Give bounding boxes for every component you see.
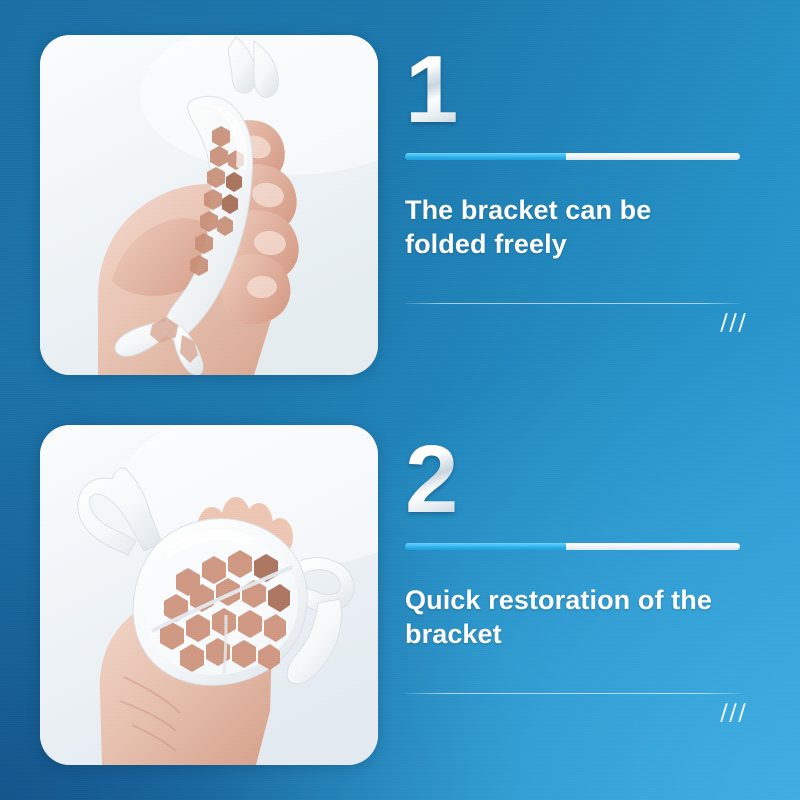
step-2-progress-bar bbox=[405, 543, 740, 550]
step-1-progress-bar bbox=[405, 153, 740, 160]
hand-folding-mask-bracket-photo bbox=[40, 35, 378, 375]
feature-step-2: 2 Quick restoration of the bracket bbox=[0, 425, 800, 775]
progress-remainder bbox=[566, 153, 740, 160]
feature-step-1: 1 The bracket can be folded freely bbox=[0, 35, 800, 385]
triple-slash-decor-icon bbox=[723, 313, 743, 332]
photo-card-step-2 bbox=[40, 425, 378, 765]
triple-slash-decor-icon bbox=[723, 703, 743, 722]
step-headline: The bracket can be folded freely bbox=[405, 193, 723, 261]
progress-remainder bbox=[566, 543, 740, 550]
progress-fill bbox=[405, 543, 566, 550]
step-number: 1 bbox=[405, 49, 456, 132]
progress-fill bbox=[405, 153, 566, 160]
step-headline: Quick restoration of the bracket bbox=[405, 583, 723, 651]
photo-card-step-1 bbox=[40, 35, 378, 375]
divider-line bbox=[405, 303, 740, 304]
step-2-text-block: 2 Quick restoration of the bracket bbox=[405, 425, 745, 765]
hand-holding-restored-mask-bracket-photo bbox=[40, 425, 378, 765]
divider-line bbox=[405, 693, 740, 694]
step-number: 2 bbox=[405, 439, 456, 522]
product-feature-poster: 1 The bracket can be folded freely bbox=[0, 0, 800, 800]
step-1-text-block: 1 The bracket can be folded freely bbox=[405, 35, 745, 375]
